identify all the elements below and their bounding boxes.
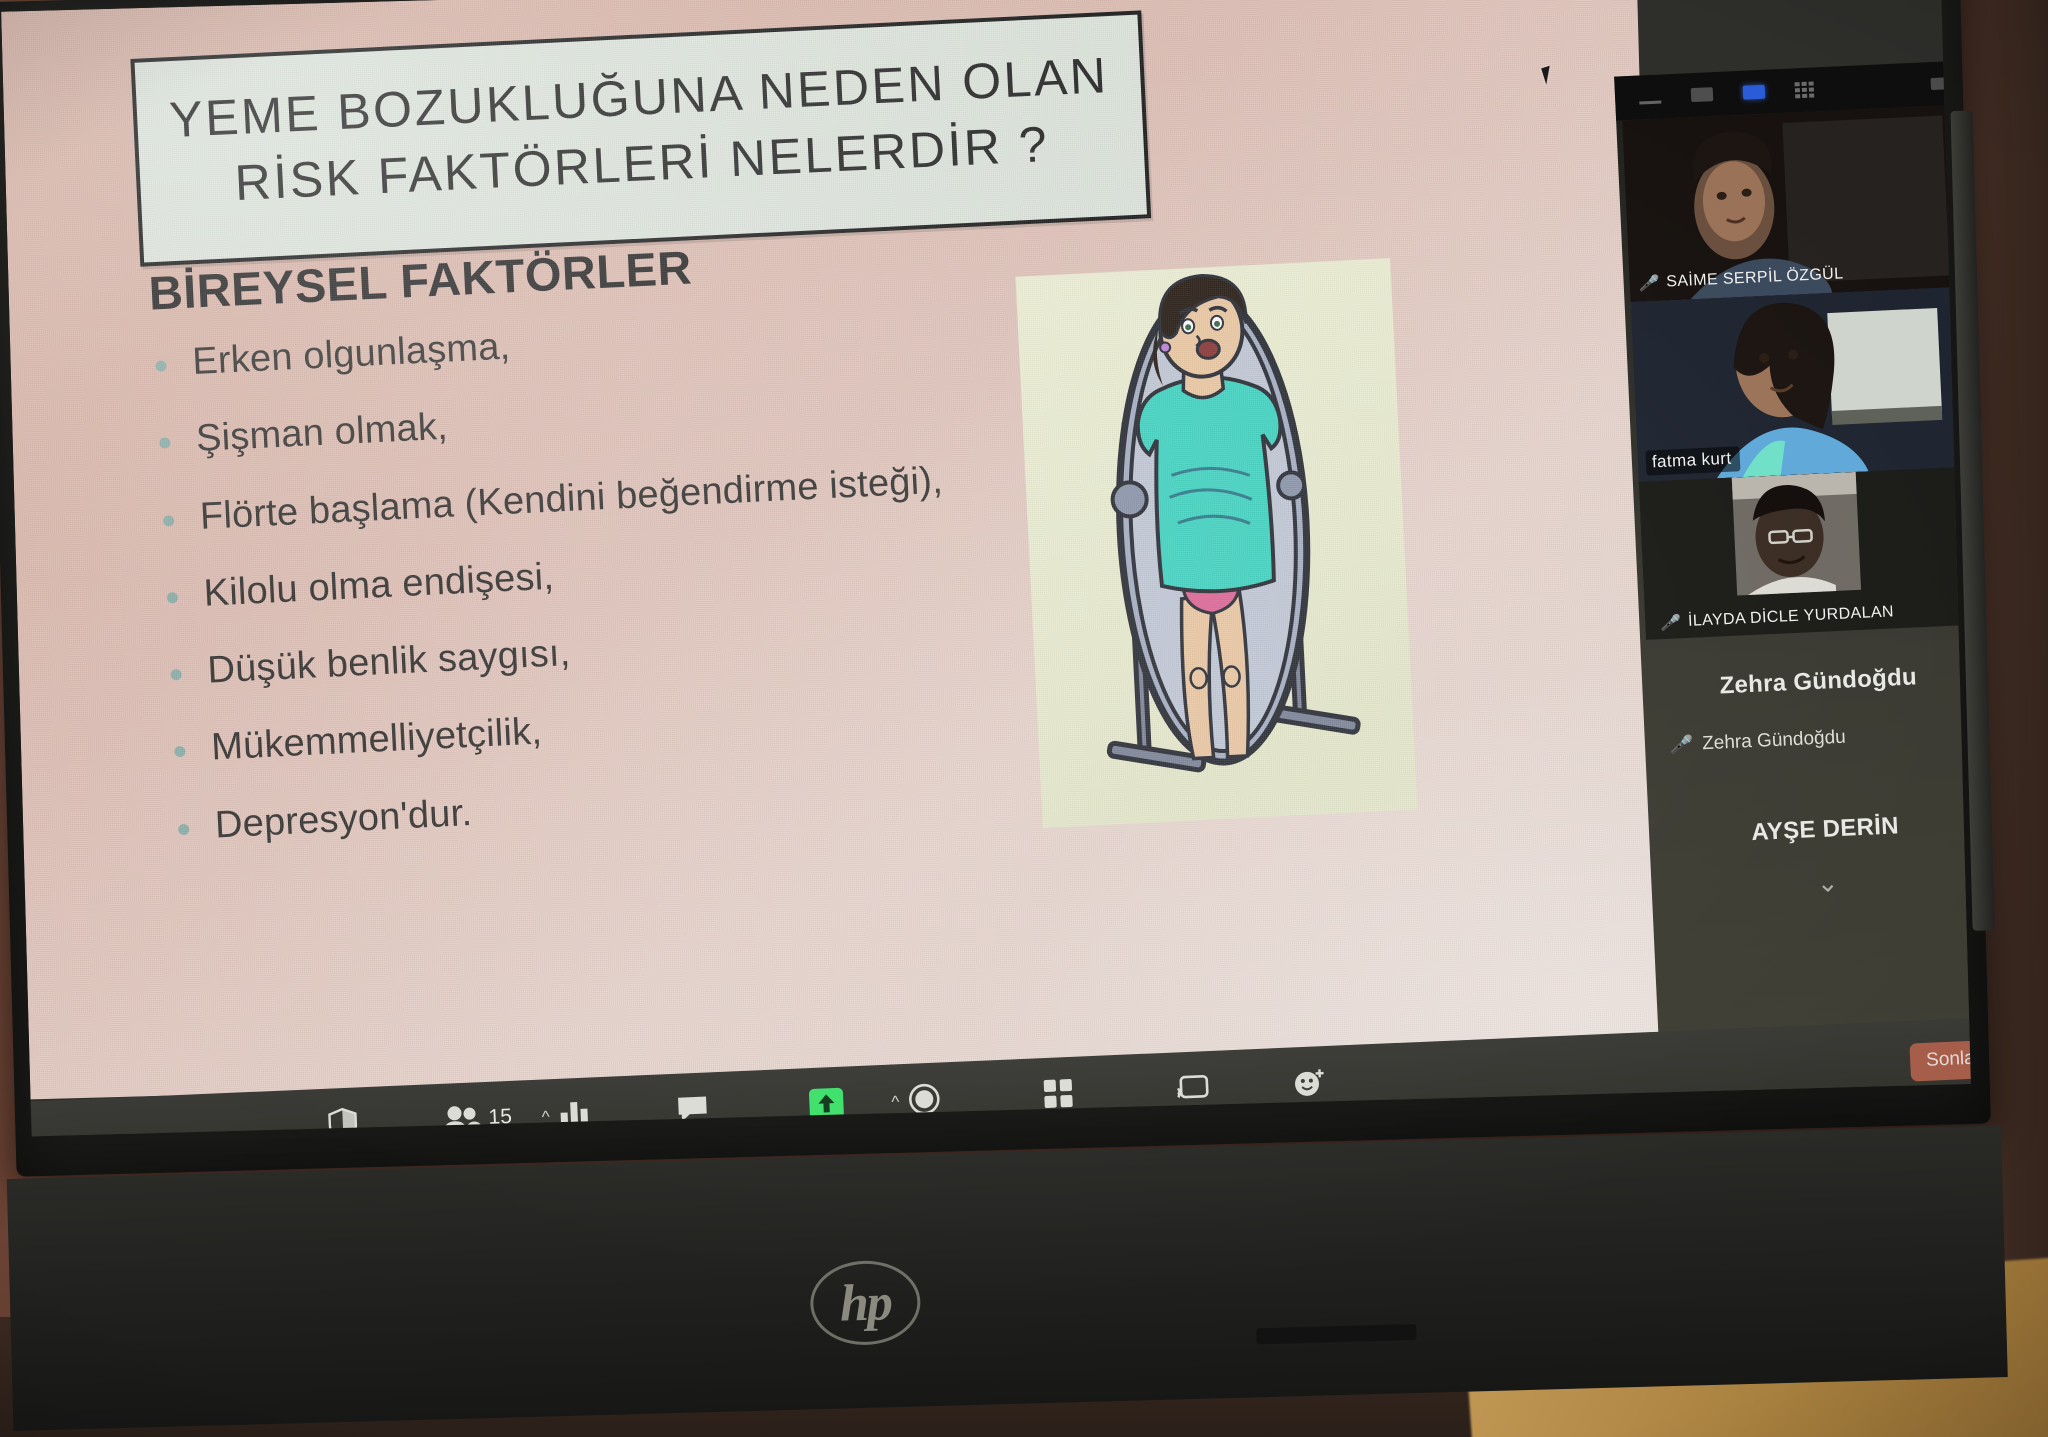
bullet-text: Kilolu olma endişesi,: [203, 552, 556, 620]
photo-of-laptop-screen: YEME BOZUKLUĞUNA NEDEN OLAN RİSK FAKTÖRL…: [0, 0, 2048, 1437]
chevron-down-icon[interactable]: ⌄: [1651, 860, 1971, 907]
grid-view-icon[interactable]: [1795, 81, 1815, 98]
shared-screen-slide: YEME BOZUKLUĞUNA NEDEN OLAN RİSK FAKTÖRL…: [1, 0, 1666, 1099]
participant-name: Zehra Gündoğdu: [1702, 727, 1847, 756]
video-tile[interactable]: fatma kurt: [1631, 287, 1971, 482]
toolbar-button-breakout-rooms[interactable]: Ara Odaları: [982, 1066, 1135, 1136]
toolbar-label: Ara Odaları: [1011, 1117, 1109, 1136]
bullet-dot-icon: [170, 669, 182, 681]
gallery-view-icon[interactable]: [1743, 85, 1766, 100]
minimize-icon[interactable]: [1639, 90, 1662, 105]
reactions-icon: [1291, 1062, 1329, 1104]
bullet-text: Düşük benlik saygısı,: [206, 628, 571, 697]
participant-entry-header[interactable]: AYŞE DERİN: [1649, 808, 1971, 852]
record-icon: [906, 1078, 942, 1119]
mirror-body-image-icon: [1015, 258, 1417, 828]
slide-title: YEME BOZUKLUĞUNA NEDEN OLAN RİSK FAKTÖRL…: [136, 41, 1145, 221]
bullet-dot-icon: [178, 824, 190, 836]
bullet-text: Mükemmelliyetçilik,: [210, 707, 543, 774]
participants-icon: 15: [441, 1097, 513, 1137]
toolbar-label: Ekran Paylaşımı: [758, 1126, 897, 1136]
toolbar-button-record[interactable]: Kaydet: [864, 1073, 985, 1137]
bullet-dot-icon: [163, 515, 175, 527]
breakout-rooms-icon: [1040, 1073, 1076, 1114]
bullet-text: Erken olgunlaşma,: [191, 322, 511, 389]
bullet-text: Şişman olmak,: [195, 402, 449, 466]
toolbar-button-chat[interactable]: Sohbet: [633, 1083, 754, 1137]
mic-off-icon: 🎤: [1638, 275, 1659, 291]
bullet-dot-icon: [155, 360, 167, 372]
toolbar-button-support[interactable]: Destek: [1132, 1061, 1253, 1136]
toolbar-label: Sohbet: [664, 1134, 725, 1137]
fullscreen-icon[interactable]: [1930, 77, 1949, 90]
bullet-text: Flörte başlama (Kendini beğendirme isteğ…: [199, 455, 944, 543]
laptop: YEME BOZUKLUĞUNA NEDEN OLAN RİSK FAKTÖRL…: [0, 0, 2023, 1434]
toolbar-button-reactions[interactable]: Tepkiler: [1250, 1056, 1371, 1133]
participant-name: fatma kurt: [1651, 449, 1731, 473]
video-sidebar-panel[interactable]: 🎤 SAİME SERPİL ÖZGÜL: [1614, 60, 1971, 1055]
laptop-screen: YEME BOZUKLUĞUNA NEDEN OLAN RİSK FAKTÖRL…: [1, 0, 1971, 1136]
toolbar-button-polls[interactable]: Anketler: [515, 1088, 636, 1137]
participant-entry-header[interactable]: Zehra Gündoğdu: [1642, 660, 1971, 704]
polls-icon: [556, 1093, 594, 1135]
bullet-dot-icon: [167, 592, 179, 604]
support-icon: [1173, 1067, 1211, 1109]
slide-title-box: YEME BOZUKLUĞUNA NEDEN OLAN RİSK FAKTÖRL…: [130, 10, 1151, 266]
toolbar-label: Tepkiler: [1278, 1107, 1344, 1132]
mic-off-icon: 🎤: [1669, 735, 1693, 756]
toolbar-label: Destek: [1164, 1112, 1224, 1136]
speaker-view-icon[interactable]: [1691, 87, 1714, 102]
toolbar-button-security[interactable]: Güvenlik: [283, 1098, 404, 1137]
participant-count: 15: [488, 1105, 512, 1130]
toolbar-label: Kaydet: [896, 1124, 956, 1136]
video-tile[interactable]: 🎤 İLAYDA DİCLE YURDALAN: [1639, 467, 1971, 640]
bullet-text: Depresyon'dur.: [214, 788, 473, 852]
laptop-deck: [7, 1125, 2008, 1431]
end-meeting-button[interactable]: Sonlandır: [1909, 1039, 1970, 1082]
participant-entry-row[interactable]: 🎤 Zehra Gündoğdu: [1671, 727, 1847, 757]
screen-bezel: YEME BOZUKLUĞUNA NEDEN OLAN RİSK FAKTÖRL…: [0, 0, 1991, 1177]
share-screen-icon: [803, 1082, 851, 1124]
video-tile[interactable]: 🎤 SAİME SERPİL ÖZGÜL: [1622, 105, 1964, 302]
shield-icon: [327, 1103, 359, 1136]
participant-name-tag: fatma kurt: [1645, 446, 1740, 475]
chat-icon: [675, 1088, 711, 1129]
bullet-dot-icon: [159, 438, 171, 450]
mirror-illustration: [1015, 258, 1417, 828]
mic-off-icon: 🎤: [1660, 615, 1681, 631]
bullet-dot-icon: [174, 746, 186, 758]
